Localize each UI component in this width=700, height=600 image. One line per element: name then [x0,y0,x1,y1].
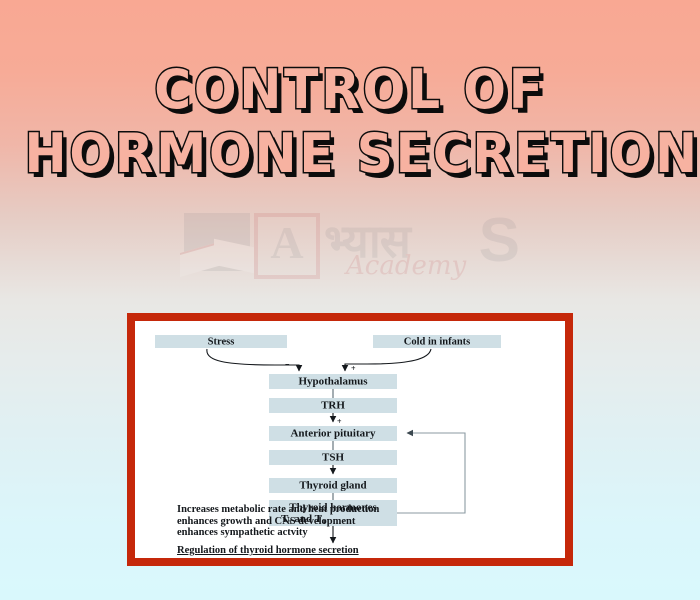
effects-list: Increases metabolic rate and heat produc… [177,504,527,539]
watermark-logo: A भ्यास S Academy [180,196,520,296]
watermark-letter-a: A [254,213,320,279]
sign-stress-negative: − [285,360,290,369]
title-line-2: HORMONE SECRETION [25,122,676,186]
open-book-icon [180,213,252,279]
watermark-wordmark: भ्यास S Academy [324,211,520,281]
node-thyroid-gland-label: Thyroid gland [299,480,366,492]
watermark-script-text: Academy [346,251,466,281]
node-tsh-label: TSH [322,452,344,464]
node-trh-label: TRH [321,400,345,412]
stimulus-cold-in-infants: Cold in infants [373,335,501,348]
sign-trh-positive: + [337,417,342,426]
node-hypothalamus-label: Hypothalamus [298,376,368,388]
poster-page: A भ्यास S Academy CONTROL OF HORMONE SEC… [0,0,700,600]
watermark-hindi-text: भ्यास [324,209,410,271]
node-anterior-pituitary-label: Anterior pituitary [290,428,376,440]
node-trh: TRH [269,398,397,413]
node-thyroid-gland: Thyroid gland [269,478,397,493]
page-title: CONTROL OF HORMONE SECRETION [25,58,676,186]
node-hypothalamus: Hypothalamus [269,374,397,389]
effect-line-1: Increases metabolic rate and heat produc… [177,504,527,516]
stimulus-cold-label: Cold in infants [404,336,471,347]
diagram-panel: Stress Cold in infants − + Hypothalamus [127,313,573,566]
stimulus-stress-label: Stress [208,336,235,347]
node-anterior-pituitary: Anterior pituitary [269,426,397,441]
diagram-caption: Regulation of thyroid hormone secretion [177,545,359,556]
title-line-1: CONTROL OF [25,58,676,122]
node-tsh: TSH [269,450,397,465]
diagram-canvas: Stress Cold in infants − + Hypothalamus [135,321,565,558]
effect-line-3: enhances sympathetic actvity [177,527,527,539]
effect-line-2: enhances growth and CNS development [177,516,527,528]
stimulus-stress: Stress [155,335,287,348]
arrow-negative-feedback-loop [397,433,465,513]
watermark-letter-s: S [479,205,520,276]
arrow-cold-to-hypothalamus [345,349,431,371]
sign-cold-positive: + [351,364,356,373]
